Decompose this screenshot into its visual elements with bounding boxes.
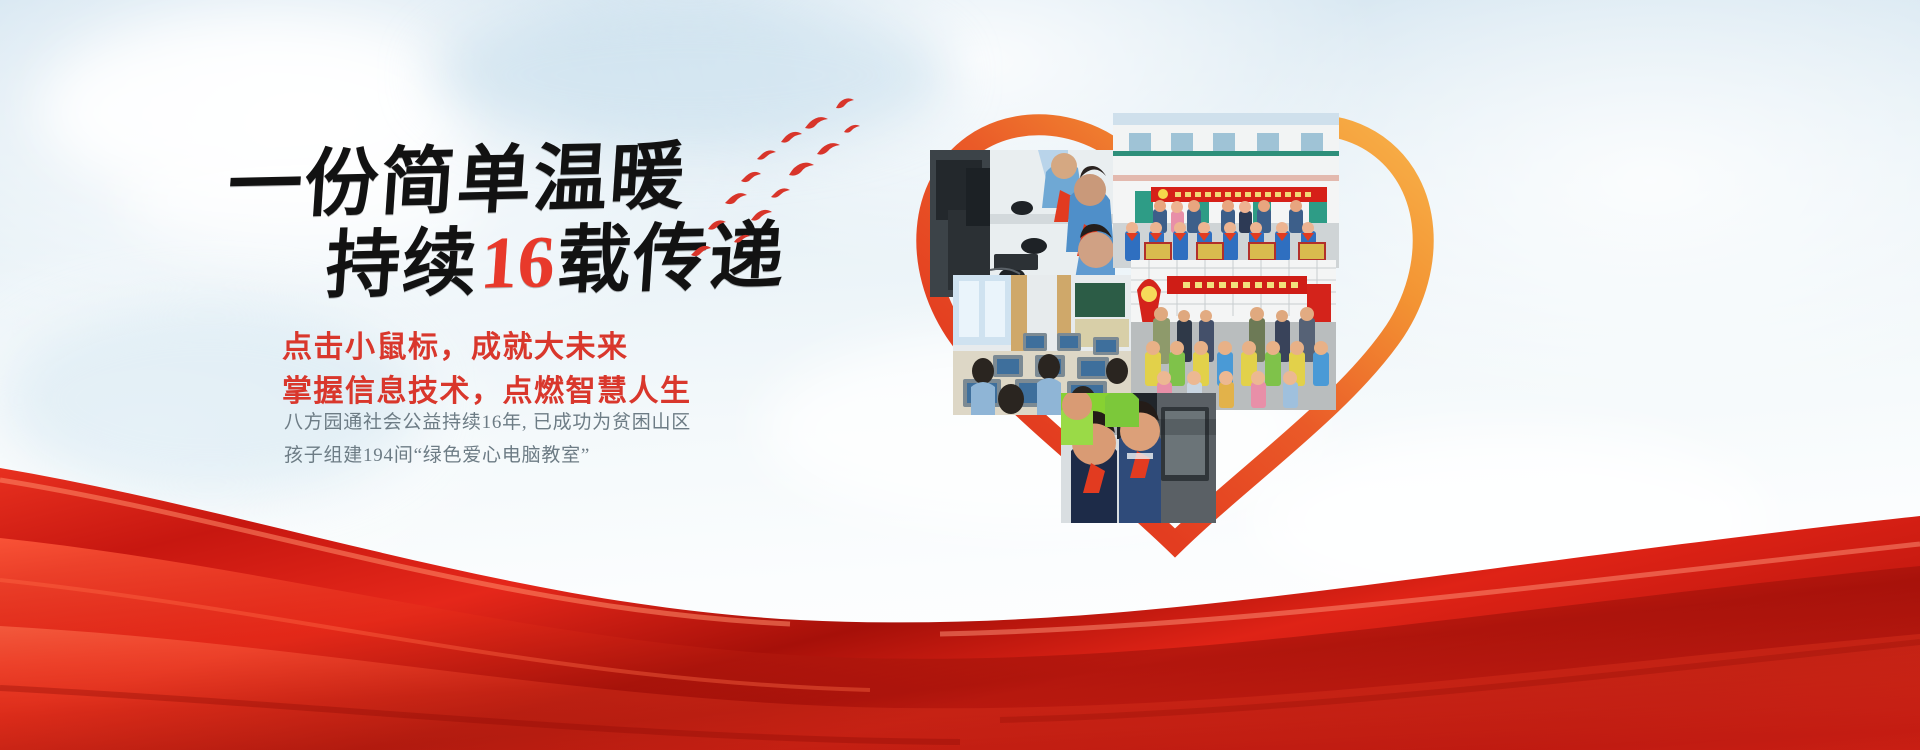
photo-school-donation-ceremony-outdoor[interactable]: [1113, 113, 1339, 268]
banner-subtitle: 点击小鼠标，成就大未来 掌握信息技术，点燃智慧人生: [282, 326, 692, 413]
subtitle-line-1: 点击小鼠标，成就大未来: [282, 326, 692, 370]
charity-banner: 一份简单温暖 持续16载传递 点击小鼠标，成就大未来 掌握信息技术，点燃智慧人生…: [0, 0, 1920, 750]
headline-line-2-prefix: 持续: [323, 223, 481, 308]
headline-year-count: 16: [476, 221, 560, 305]
photo-donation-ceremony-indoor-group[interactable]: [1131, 260, 1336, 410]
red-silk-ribbon-icon: [0, 420, 1920, 750]
